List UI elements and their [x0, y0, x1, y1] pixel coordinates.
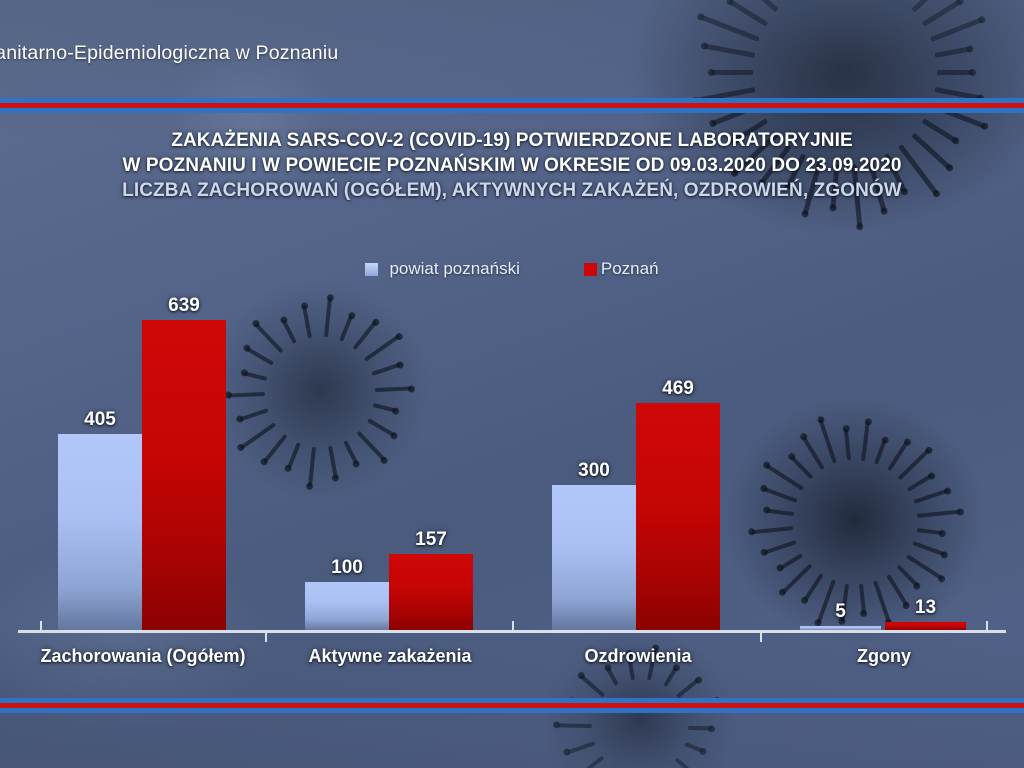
- axis-tick: [760, 633, 762, 642]
- axis-tick: [512, 621, 514, 630]
- chart-screenshot: wa Stacja Sanitarno-Epidemiologiczna w P…: [0, 0, 1024, 768]
- bar-item-poznan[interactable]: 13: [885, 290, 966, 630]
- divider-top: [0, 98, 1024, 113]
- bar-item-poznan[interactable]: 157: [389, 290, 473, 630]
- legend-swatch-icon-poznan: [584, 263, 597, 276]
- title-line-3: LICZBA ZACHOROWAŃ (OGÓŁEM), AKTYWNYCH ZA…: [0, 178, 1024, 203]
- divider-bottom: [0, 698, 1024, 713]
- chart-legend: powiat poznański Poznań: [0, 259, 1024, 279]
- institution-header: wa Stacja Sanitarno-Epidemiologiczna w P…: [0, 42, 510, 65]
- category-label: Zachorowania (Ogółem): [3, 646, 283, 667]
- bar-item-poznan[interactable]: 469: [636, 290, 720, 630]
- title-line-1: ZAKAŻENIA SARS-COV-2 (COVID-19) POTWIERD…: [0, 128, 1024, 153]
- bar-item-powiat-poznanski[interactable]: 300: [552, 290, 636, 630]
- bar-poznan[interactable]: [389, 554, 473, 630]
- legend-item-powiat-poznanski[interactable]: powiat poznański: [365, 259, 519, 279]
- category-label: Ozdrowienia: [498, 646, 778, 667]
- bar-group: 405639: [58, 290, 226, 630]
- category-label: Zgony: [744, 646, 1024, 667]
- axis-tick: [40, 621, 42, 630]
- bar-poznan[interactable]: [636, 403, 720, 630]
- bar-poznan[interactable]: [142, 320, 226, 630]
- divider-bottom-red-line: [0, 703, 1024, 708]
- x-axis-category-labels: Zachorowania (Ogółem)Aktywne zakażeniaOz…: [0, 646, 1024, 676]
- bar-group: 100157: [305, 290, 473, 630]
- bar-group: 300469: [552, 290, 720, 630]
- legend-label-powiat-poznanski: powiat poznański: [389, 259, 519, 279]
- axis-tick: [265, 633, 267, 642]
- chart-plot-area: 405639100157300469513: [0, 290, 1024, 630]
- title-line-2: W POZNANIU I W POWIECIE POZNAŃSKIM W OKR…: [0, 153, 1024, 178]
- bar-group: 513: [800, 290, 966, 630]
- bar-item-powiat-poznanski[interactable]: 5: [800, 290, 881, 630]
- axis-tick: [986, 621, 988, 630]
- page-title: ZAKAŻENIA SARS-COV-2 (COVID-19) POTWIERD…: [0, 128, 1024, 203]
- x-axis-line: [18, 630, 1006, 633]
- bar-item-poznan[interactable]: 639: [142, 290, 226, 630]
- legend-label-poznan: Poznań: [601, 259, 659, 279]
- bar-powiat-poznanski[interactable]: [552, 485, 636, 631]
- bar-powiat-poznanski[interactable]: [305, 582, 389, 631]
- bar-poznan[interactable]: [885, 622, 966, 630]
- bar-item-powiat-poznanski[interactable]: 100: [305, 290, 389, 630]
- category-label: Aktywne zakażenia: [250, 646, 530, 667]
- bar-item-powiat-poznanski[interactable]: 405: [58, 290, 142, 630]
- bar-powiat-poznanski[interactable]: [58, 434, 142, 630]
- legend-item-poznan[interactable]: Poznań: [584, 259, 659, 279]
- legend-swatch-icon-powiat-poznanski: [365, 263, 378, 276]
- divider-top-red-line: [0, 103, 1024, 108]
